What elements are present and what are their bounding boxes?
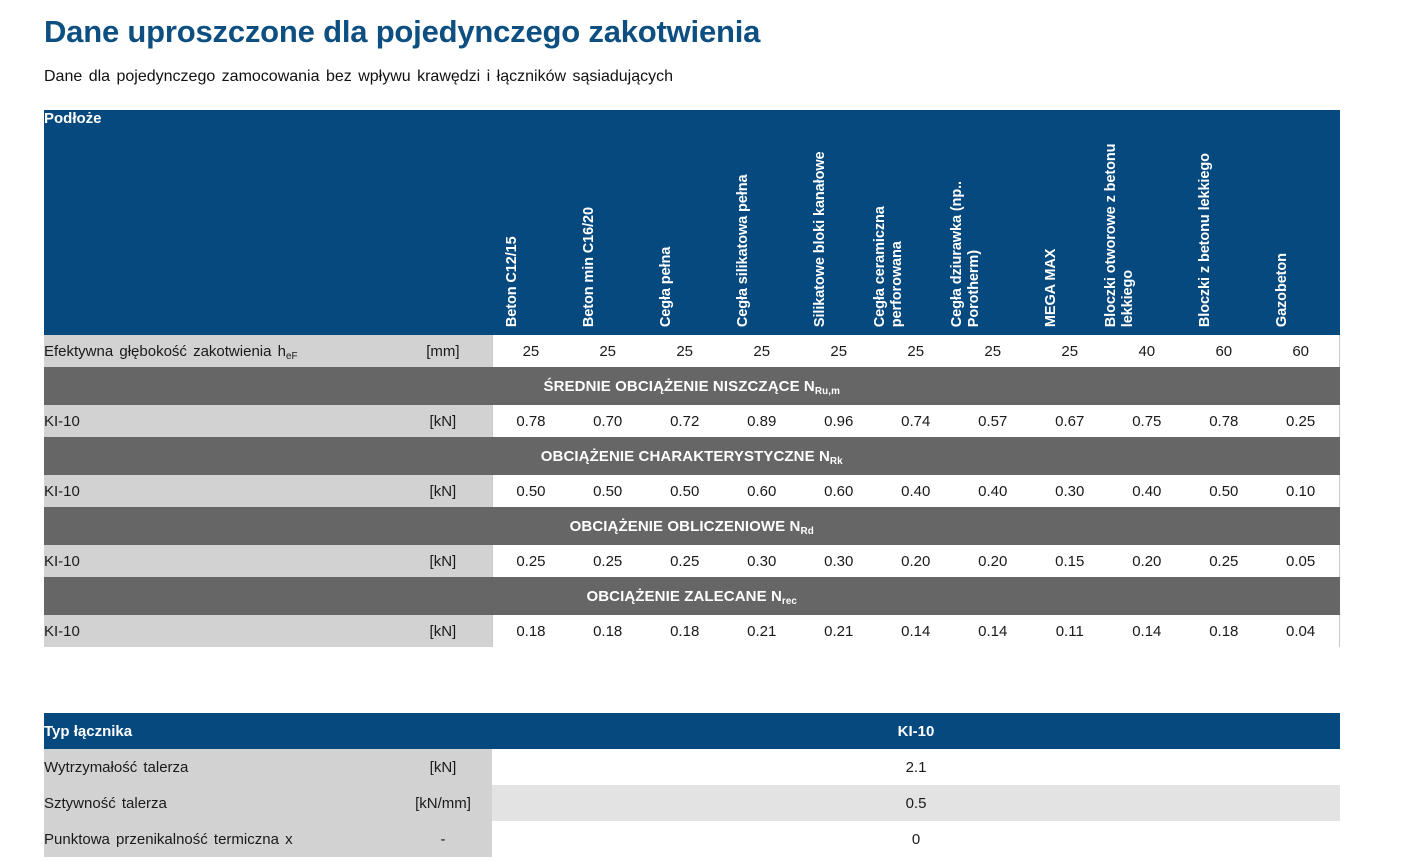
section-band-label: ŚREDNIE OBCIĄŻENIE NISZCZĄCE NRu,m bbox=[44, 367, 1340, 405]
data-cell: 25 bbox=[877, 335, 954, 367]
substrate-header-10: Gazobeton bbox=[1262, 110, 1339, 335]
data-cell: 0.40 bbox=[954, 475, 1031, 507]
data-cell: 0.96 bbox=[800, 405, 877, 437]
substrate-header-label: Cegła pełna bbox=[658, 122, 675, 327]
row-unit: [kN] bbox=[394, 749, 492, 785]
vertical-label-wrap: Bloczki z betonu lekkiego bbox=[1185, 120, 1262, 335]
vertical-label-wrap: Gazobeton bbox=[1262, 120, 1339, 335]
data-cell: 0.10 bbox=[1262, 475, 1339, 507]
vertical-label-wrap: Beton min C16/20 bbox=[569, 120, 646, 335]
substrate-header-3: Cegła silikatowa pełna bbox=[723, 110, 800, 335]
data-cell: 0.18 bbox=[646, 615, 723, 647]
data-cell: 0.5 bbox=[492, 785, 1340, 821]
data-cell: 0.18 bbox=[492, 615, 569, 647]
vertical-label-wrap: Cegła silikatowa pełna bbox=[723, 120, 800, 335]
data-cell: 0.18 bbox=[1185, 615, 1262, 647]
table-row: KI-10[kN]0.180.180.180.210.210.140.140.1… bbox=[44, 615, 1340, 647]
row-unit: - bbox=[394, 821, 492, 857]
data-cell: 0.25 bbox=[646, 545, 723, 577]
data-cell: 0.70 bbox=[569, 405, 646, 437]
row-unit: [mm] bbox=[394, 335, 492, 367]
data-cell: 60 bbox=[1262, 335, 1339, 367]
substrate-header-label: Cegła ceramiczna perforowana bbox=[872, 122, 906, 327]
data-cell: 0.78 bbox=[1185, 405, 1262, 437]
vertical-label-wrap: Cegła dziurawka (np.. Porotherm) bbox=[954, 120, 1031, 335]
substrate-header-label: Bloczki otworowe z betonu lekkiego bbox=[1103, 122, 1137, 327]
fastener-type-label: Typ łącznika bbox=[44, 713, 492, 749]
data-cell: 0.57 bbox=[954, 405, 1031, 437]
section-band-row: OBCIĄŻENIE OBLICZENIOWE NRd bbox=[44, 507, 1340, 545]
substrate-header-4: Silikatowe bloki kanałowe bbox=[800, 110, 877, 335]
data-cell: 0.60 bbox=[723, 475, 800, 507]
data-cell: 0.89 bbox=[723, 405, 800, 437]
substrate-header-0: Beton C12/15 bbox=[492, 110, 569, 335]
data-cell: 25 bbox=[954, 335, 1031, 367]
substrate-header-2: Cegła pełna bbox=[646, 110, 723, 335]
datasheet-page: Dane uproszczone dla pojedynczego zakotw… bbox=[0, 0, 1412, 863]
table-row: Sztywność talerza[kN/mm]0.5 bbox=[44, 785, 1340, 821]
vertical-label-wrap: MEGA MAX bbox=[1031, 120, 1108, 335]
data-cell: 25 bbox=[1031, 335, 1108, 367]
data-cell: 0.18 bbox=[569, 615, 646, 647]
substrate-header-9: Bloczki z betonu lekkiego bbox=[1185, 110, 1262, 335]
section-band-row: OBCIĄŻENIE ZALECANE Nrec bbox=[44, 577, 1340, 615]
data-cell: 0.60 bbox=[800, 475, 877, 507]
data-cell: 0.25 bbox=[492, 545, 569, 577]
data-cell: 25 bbox=[492, 335, 569, 367]
substrate-header-label: Beton C12/15 bbox=[504, 122, 521, 327]
section-band-label: OBCIĄŻENIE CHARAKTERYSTYCZNE NRk bbox=[44, 437, 1340, 475]
data-cell: 0.25 bbox=[569, 545, 646, 577]
table-row: KI-10[kN]0.780.700.720.890.960.740.570.6… bbox=[44, 405, 1340, 437]
row-label: Efektywna głębokość zakotwienia heF bbox=[44, 335, 394, 367]
row-label: KI-10 bbox=[44, 545, 394, 577]
data-cell: 60 bbox=[1185, 335, 1262, 367]
data-cell: 0.14 bbox=[954, 615, 1031, 647]
data-cell: 25 bbox=[569, 335, 646, 367]
data-cell: 0.15 bbox=[1031, 545, 1108, 577]
data-cell: 0.40 bbox=[1108, 475, 1185, 507]
header-unit-cell bbox=[394, 110, 492, 335]
table-row: KI-10[kN]0.250.250.250.300.300.200.200.1… bbox=[44, 545, 1340, 577]
page-title: Dane uproszczone dla pojedynczego zakotw… bbox=[44, 14, 760, 50]
row-label: Sztywność talerza bbox=[44, 785, 394, 821]
table-row: KI-10[kN]0.500.500.500.600.600.400.400.3… bbox=[44, 475, 1340, 507]
row-unit: [kN] bbox=[394, 475, 492, 507]
section-band-label: OBCIĄŻENIE OBLICZENIOWE NRd bbox=[44, 507, 1340, 545]
vertical-label-wrap: Beton C12/15 bbox=[492, 120, 569, 335]
vertical-label-wrap: Silikatowe bloki kanałowe bbox=[800, 120, 877, 335]
data-cell: 0.25 bbox=[1185, 545, 1262, 577]
data-cell: 0.30 bbox=[800, 545, 877, 577]
effective-anchorage-depth-row: Efektywna głębokość zakotwienia heF[mm]2… bbox=[44, 335, 1340, 367]
data-cell: 0 bbox=[492, 821, 1340, 857]
data-cell: 0.20 bbox=[1108, 545, 1185, 577]
section-band-subscript: Ru,m bbox=[815, 386, 840, 397]
section-band-subscript: Rk bbox=[830, 456, 843, 467]
data-cell: 0.50 bbox=[492, 475, 569, 507]
section-band-row: OBCIĄŻENIE CHARAKTERYSTYCZNE NRk bbox=[44, 437, 1340, 475]
vertical-label-wrap: Cegła ceramiczna perforowana bbox=[877, 120, 954, 335]
data-cell: 0.30 bbox=[723, 545, 800, 577]
data-cell: 0.04 bbox=[1262, 615, 1339, 647]
data-cell: 0.21 bbox=[800, 615, 877, 647]
substrate-header-label: Cegła silikatowa pełna bbox=[735, 122, 752, 327]
row-label: Punktowa przenikalność termiczna x bbox=[44, 821, 394, 857]
substrate-header-1: Beton min C16/20 bbox=[569, 110, 646, 335]
substrate-header-label: Cegła dziurawka (np.. Porotherm) bbox=[949, 122, 983, 327]
corner-label-cell: Podłoże bbox=[44, 110, 394, 335]
substrate-header-label: Silikatowe bloki kanałowe bbox=[812, 122, 829, 327]
row-unit: [kN] bbox=[394, 545, 492, 577]
row-unit: [kN] bbox=[394, 615, 492, 647]
data-cell: 0.50 bbox=[569, 475, 646, 507]
data-cell: 0.75 bbox=[1108, 405, 1185, 437]
row-unit: [kN/mm] bbox=[394, 785, 492, 821]
data-cell: 0.21 bbox=[723, 615, 800, 647]
data-cell: 25 bbox=[800, 335, 877, 367]
section-band-row: ŚREDNIE OBCIĄŻENIE NISZCZĄCE NRu,m bbox=[44, 367, 1340, 405]
data-cell: 0.20 bbox=[877, 545, 954, 577]
substrate-header-label: Bloczki z betonu lekkiego bbox=[1197, 122, 1214, 327]
vertical-label-wrap: Cegła pełna bbox=[646, 120, 723, 335]
table-row: Wytrzymałość talerza[kN]2.1 bbox=[44, 749, 1340, 785]
data-cell: 25 bbox=[723, 335, 800, 367]
data-cell: 0.67 bbox=[1031, 405, 1108, 437]
data-cell: 0.72 bbox=[646, 405, 723, 437]
section-band-subscript: rec bbox=[782, 596, 797, 607]
substrate-header-6: Cegła dziurawka (np.. Porotherm) bbox=[954, 110, 1031, 335]
data-cell: 0.11 bbox=[1031, 615, 1108, 647]
data-cell: 0.14 bbox=[877, 615, 954, 647]
data-cell: 0.30 bbox=[1031, 475, 1108, 507]
fastener-type-table: Typ łącznikaKI-10Wytrzymałość talerza[kN… bbox=[44, 713, 1340, 857]
fastener-type-value: KI-10 bbox=[492, 713, 1340, 749]
section-band-label: OBCIĄŻENIE ZALECANE Nrec bbox=[44, 577, 1340, 615]
data-cell: 0.40 bbox=[877, 475, 954, 507]
substrate-header-label: Gazobeton bbox=[1274, 122, 1291, 327]
row-label: KI-10 bbox=[44, 475, 394, 507]
data-cell: 25 bbox=[646, 335, 723, 367]
page-subtitle: Dane dla pojedynczego zamocowania bez wp… bbox=[44, 68, 673, 86]
substrate-header-label: MEGA MAX bbox=[1043, 122, 1060, 327]
row-label-subscript: eF bbox=[286, 351, 298, 362]
substrate-header-8: Bloczki otworowe z betonu lekkiego bbox=[1108, 110, 1185, 335]
fastener-header-row: Typ łącznikaKI-10 bbox=[44, 713, 1340, 749]
data-cell: 0.50 bbox=[1185, 475, 1262, 507]
data-cell: 40 bbox=[1108, 335, 1185, 367]
row-unit: [kN] bbox=[394, 405, 492, 437]
row-label: KI-10 bbox=[44, 405, 394, 437]
data-cell: 2.1 bbox=[492, 749, 1340, 785]
substrate-header-label: Beton min C16/20 bbox=[581, 122, 598, 327]
data-cell: 0.05 bbox=[1262, 545, 1339, 577]
row-label: KI-10 bbox=[44, 615, 394, 647]
table-header-row: PodłożeBeton C12/15Beton min C16/20Cegła… bbox=[44, 110, 1340, 335]
data-cell: 0.74 bbox=[877, 405, 954, 437]
data-cell: 0.20 bbox=[954, 545, 1031, 577]
vertical-label-wrap: Bloczki otworowe z betonu lekkiego bbox=[1108, 120, 1185, 335]
data-cell: 0.78 bbox=[492, 405, 569, 437]
substrate-header-7: MEGA MAX bbox=[1031, 110, 1108, 335]
row-label: Wytrzymałość talerza bbox=[44, 749, 394, 785]
data-cell: 0.25 bbox=[1262, 405, 1339, 437]
table-row: Punktowa przenikalność termiczna x-0 bbox=[44, 821, 1340, 857]
data-cell: 0.50 bbox=[646, 475, 723, 507]
data-cell: 0.14 bbox=[1108, 615, 1185, 647]
substrate-header-5: Cegła ceramiczna perforowana bbox=[877, 110, 954, 335]
section-band-subscript: Rd bbox=[800, 526, 813, 537]
anchor-load-table: PodłożeBeton C12/15Beton min C16/20Cegła… bbox=[44, 110, 1340, 647]
